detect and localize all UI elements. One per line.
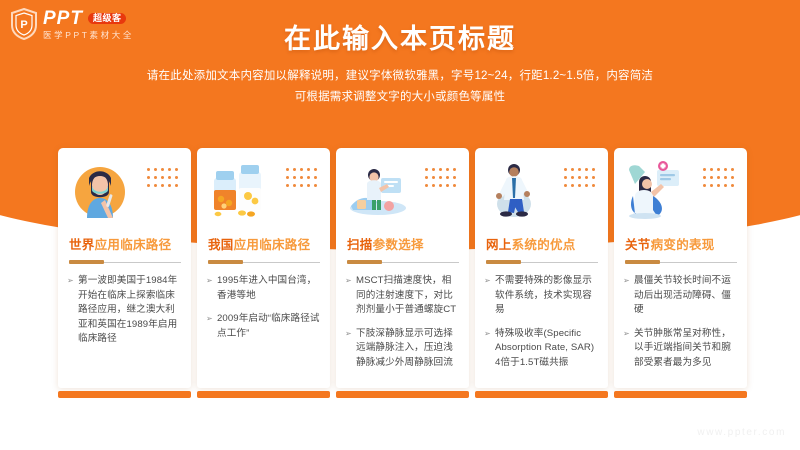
card-3-bullet-1: ➢ MSCT扫描速度快，相同的注射速度下，对比剂剂量小于普通螺旋CT — [345, 274, 460, 318]
card-2-bullet-2-text: 2009年启动“临床路径试点工作” — [217, 313, 320, 339]
bullet-arrow-icon: ➢ — [206, 274, 213, 288]
card-3[interactable]: 扫描参数选择 ➢ MSCT扫描速度快，相同的注射速度下，对比剂剂量小于普通螺旋C… — [336, 148, 469, 388]
bullet-arrow-icon: ➢ — [623, 327, 630, 341]
page-subtitle-line-1: 请在此处添加文本内容加以解释说明，建议字体微软雅黑，字号12~24，行距1.2~… — [0, 66, 800, 87]
card-3-bottom-bar — [336, 391, 469, 398]
page-subtitle-line-2: 可根据需求调整文字的大小或颜色等属性 — [0, 87, 800, 108]
doctor-standing-illustration — [484, 156, 550, 222]
card-4-title: 网上系统的优点 — [486, 234, 608, 253]
divider-thick-accent — [486, 260, 521, 264]
bullet-arrow-icon: ➢ — [484, 274, 491, 288]
card-2[interactable]: 我国应用临床路径 ➢ 1995年进入中国台湾，香港等地 ➢ 2009年启动“临床… — [197, 148, 330, 388]
card-5-illustration-zone — [623, 156, 738, 228]
card-3-title: 扫描参数选择 — [347, 234, 469, 253]
divider-thick-accent — [347, 260, 382, 264]
card-2-bullet-1-text: 1995年进入中国台湾，香港等地 — [217, 275, 316, 301]
card-3-title-part-a: 扫描 — [347, 238, 373, 252]
card-2-illustration-zone — [206, 156, 321, 228]
card-4-illustration-zone — [484, 156, 599, 228]
card-5-title: 关节病变的表现 — [625, 234, 747, 253]
card-2-divider — [208, 260, 320, 264]
dot-grid-decoration — [703, 168, 738, 192]
card-5-title-part-b: 病变的表现 — [651, 238, 715, 252]
dot-grid-decoration — [286, 168, 321, 192]
card-3-divider — [347, 260, 459, 264]
card-1[interactable]: 世界应用临床路径 ➢ 第一波即美国于1984年开始在临床上探索临床路径应用，继之… — [58, 148, 191, 388]
card-4-divider — [486, 260, 598, 264]
divider-thick-accent — [69, 260, 104, 264]
card-2-bullet-2: ➢ 2009年启动“临床路径试点工作” — [206, 312, 321, 341]
bullet-arrow-icon: ➢ — [345, 274, 352, 288]
card-1-bullet-1: ➢ 第一波即美国于1984年开始在临床上探索临床路径应用，继之澳大利亚和英国在1… — [67, 274, 182, 347]
card-2-bottom-bar — [197, 391, 330, 398]
card-5-bullet-list: ➢ 晨僵关节较长时间不运动后出现活动障碍、僵硬 ➢ 关节肿胀常呈对称性，以手近端… — [623, 274, 738, 379]
card-4-bullet-2-text: 特殊吸收率(Specific Absorption Rate, SAR) 4倍于… — [495, 328, 594, 368]
card-3-title-part-b: 参数选择 — [373, 238, 424, 252]
divider-thick-accent — [208, 260, 243, 264]
card-4-title-part-a: 网上 — [486, 238, 512, 252]
doctor-with-tablet-illustration — [345, 156, 411, 222]
dot-grid-decoration — [425, 168, 460, 192]
medicine-bottles-illustration — [206, 156, 272, 222]
card-5-bullet-1-text: 晨僵关节较长时间不运动后出现活动障碍、僵硬 — [634, 275, 731, 315]
card-1-divider — [69, 260, 181, 264]
card-5-bullet-1: ➢ 晨僵关节较长时间不运动后出现活动障碍、僵硬 — [623, 274, 738, 318]
bullet-arrow-icon: ➢ — [67, 274, 74, 288]
bullet-arrow-icon: ➢ — [484, 327, 491, 341]
card-2-title-part-a: 我国 — [208, 238, 234, 252]
card-5-bullet-2-text: 关节肿胀常呈对称性，以手近端指间关节和腕部受累者最为多见 — [634, 328, 731, 368]
card-5-divider — [625, 260, 737, 264]
card-1-illustration-zone — [67, 156, 182, 228]
card-1-bullet-1-text: 第一波即美国于1984年开始在临床上探索临床路径应用，继之澳大利亚和英国在198… — [78, 275, 177, 344]
card-4-bullet-1: ➢ 不需要特殊的影像显示软件系统，技术实现容易 — [484, 274, 599, 318]
card-5-bottom-bar — [614, 391, 747, 398]
dot-grid-decoration — [564, 168, 599, 192]
bullet-arrow-icon: ➢ — [623, 274, 630, 288]
page-title: 在此输入本页标题 — [0, 17, 800, 56]
card-4-title-part-b: 系统的优点 — [512, 238, 576, 252]
card-1-title: 世界应用临床路径 — [69, 234, 191, 253]
nurse-with-mask-illustration — [67, 156, 133, 222]
card-4[interactable]: 网上系统的优点 ➢ 不需要特殊的影像显示软件系统，技术实现容易 ➢ 特殊吸收率(… — [475, 148, 608, 388]
card-2-title: 我国应用临床路径 — [208, 234, 330, 253]
card-3-illustration-zone — [345, 156, 460, 228]
card-1-title-part-b: 应用临床路径 — [95, 238, 172, 252]
page-subtitle: 请在此处添加文本内容加以解释说明，建议字体微软雅黑，字号12~24，行距1.2~… — [0, 66, 800, 109]
nurse-at-screen-illustration — [623, 156, 689, 222]
card-1-bottom-bar — [58, 391, 191, 398]
divider-thick-accent — [625, 260, 660, 264]
card-5[interactable]: 关节病变的表现 ➢ 晨僵关节较长时间不运动后出现活动障碍、僵硬 ➢ 关节肿胀常呈… — [614, 148, 747, 388]
card-2-title-part-b: 应用临床路径 — [234, 238, 311, 252]
card-5-bullet-2: ➢ 关节肿胀常呈对称性，以手近端指间关节和腕部受累者最为多见 — [623, 327, 738, 371]
card-5-title-part-a: 关节 — [625, 238, 651, 252]
card-row: 世界应用临床路径 ➢ 第一波即美国于1984年开始在临床上探索临床路径应用，继之… — [58, 148, 748, 388]
card-2-bullet-list: ➢ 1995年进入中国台湾，香港等地 ➢ 2009年启动“临床路径试点工作” — [206, 274, 321, 350]
card-4-bullet-1-text: 不需要特殊的影像显示软件系统，技术实现容易 — [495, 275, 592, 315]
card-3-bullet-2: ➢ 下肢深静脉显示可选择远端静脉注入，压迫浅静脉减少外周静脉回流 — [345, 327, 460, 371]
card-2-bullet-1: ➢ 1995年进入中国台湾，香港等地 — [206, 274, 321, 303]
bullet-arrow-icon: ➢ — [206, 312, 213, 326]
card-1-bullet-list: ➢ 第一波即美国于1984年开始在临床上探索临床路径应用，继之澳大利亚和英国在1… — [67, 274, 182, 356]
bullet-arrow-icon: ➢ — [345, 327, 352, 341]
card-4-bottom-bar — [475, 391, 608, 398]
card-4-bullet-2: ➢ 特殊吸收率(Specific Absorption Rate, SAR) 4… — [484, 327, 599, 371]
card-4-bullet-list: ➢ 不需要特殊的影像显示软件系统，技术实现容易 ➢ 特殊吸收率(Specific… — [484, 274, 599, 379]
card-3-bullet-2-text: 下肢深静脉显示可选择远端静脉注入，压迫浅静脉减少外周静脉回流 — [356, 328, 453, 368]
dot-grid-decoration — [147, 168, 182, 192]
card-3-bullet-1-text: MSCT扫描速度快，相同的注射速度下，对比剂剂量小于普通螺旋CT — [356, 275, 456, 315]
site-watermark: www.ppter.com — [697, 427, 786, 438]
card-1-title-part-a: 世界 — [69, 238, 95, 252]
card-3-bullet-list: ➢ MSCT扫描速度快，相同的注射速度下，对比剂剂量小于普通螺旋CT ➢ 下肢深… — [345, 274, 460, 379]
